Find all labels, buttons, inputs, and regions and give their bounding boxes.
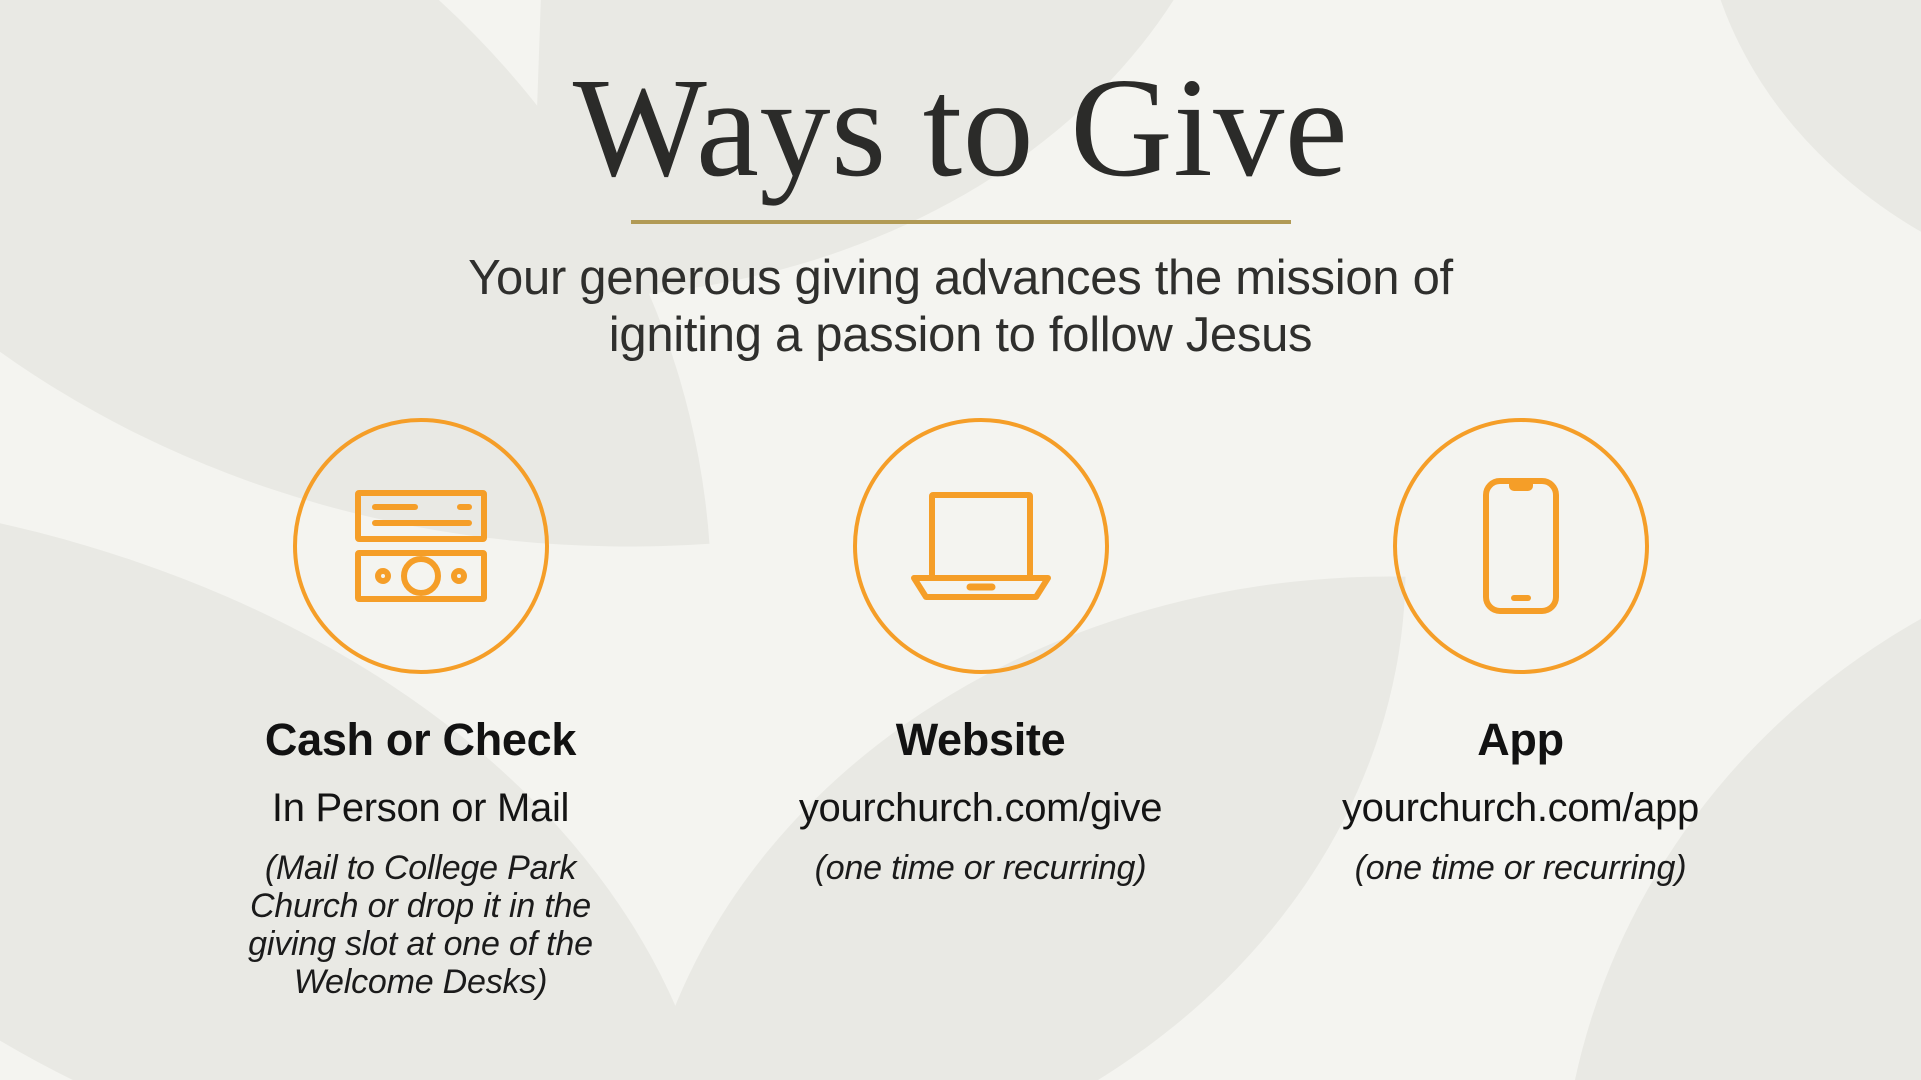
giving-option-note-line-1: (one time or recurring): [1261, 849, 1781, 887]
giving-option-app[interactable]: App yourchurch.com/app (one time or recu…: [1261, 418, 1781, 887]
mobile-phone-icon: [1483, 478, 1559, 614]
laptop-icon-ring: [853, 418, 1109, 674]
giving-option-note-line-3: giving slot at one of the: [141, 925, 701, 963]
page-subtitle-line-2: igniting a passion to follow Jesus: [0, 307, 1921, 364]
giving-option-subtitle[interactable]: yourchurch.com/app: [1261, 786, 1781, 831]
page-title: Ways to Give: [0, 56, 1921, 198]
giving-option-subtitle[interactable]: yourchurch.com/give: [701, 786, 1261, 831]
giving-option-title: App: [1261, 714, 1781, 766]
laptop-icon: [906, 491, 1056, 601]
giving-option-note-line-1: (one time or recurring): [701, 849, 1261, 887]
header: Ways to Give Your generous giving advanc…: [0, 56, 1921, 364]
giving-option-cash-or-check[interactable]: Cash or Check In Person or Mail (Mail to…: [141, 418, 701, 1001]
giving-option-subtitle: In Person or Mail: [141, 786, 701, 831]
cash-check-icon: [355, 490, 487, 602]
giving-option-website[interactable]: Website yourchurch.com/give (one time or…: [701, 418, 1261, 887]
slide-root: Ways to Give Your generous giving advanc…: [0, 0, 1921, 1080]
giving-option-note-line-1: (Mail to College Park: [141, 849, 701, 887]
title-divider: [631, 220, 1291, 224]
cash-check-icon-ring: [293, 418, 549, 674]
phone-icon-ring: [1393, 418, 1649, 674]
giving-options: Cash or Check In Person or Mail (Mail to…: [0, 418, 1921, 1001]
giving-option-note: (one time or recurring): [701, 849, 1261, 887]
giving-option-title: Website: [701, 714, 1261, 766]
giving-option-note: (one time or recurring): [1261, 849, 1781, 887]
giving-option-note-line-2: Church or drop it in the: [141, 887, 701, 925]
giving-option-note-line-4: Welcome Desks): [141, 963, 701, 1001]
giving-option-note: (Mail to College Park Church or drop it …: [141, 849, 701, 1001]
giving-option-title: Cash or Check: [141, 714, 701, 766]
page-subtitle: Your generous giving advances the missio…: [0, 250, 1921, 364]
page-subtitle-line-1: Your generous giving advances the missio…: [0, 250, 1921, 307]
